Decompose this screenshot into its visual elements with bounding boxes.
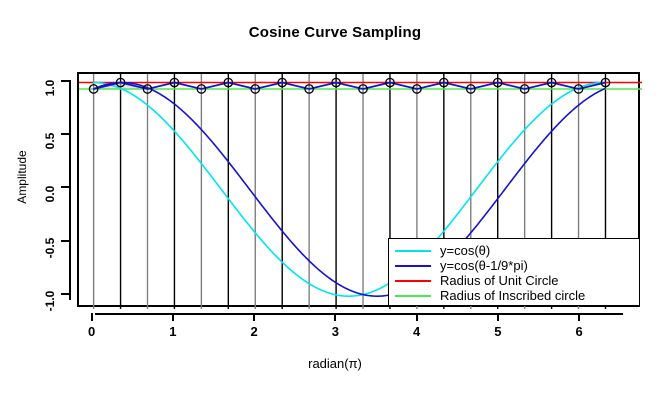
- legend-item-label: Radius of Inscribed circle: [440, 288, 585, 303]
- legend-swatch-icon: [395, 295, 431, 297]
- x-tick: [497, 313, 499, 321]
- legend-item-3[interactable]: Radius of Inscribed circle: [395, 288, 633, 303]
- y-tick: [61, 80, 69, 82]
- legend-swatch-icon: [395, 280, 431, 282]
- legend-item-label: Radius of Unit Circle: [440, 273, 559, 288]
- x-tick-label: 1: [158, 324, 188, 339]
- legend-item-2[interactable]: Radius of Unit Circle: [395, 273, 633, 288]
- x-tick: [91, 313, 93, 321]
- chart-legend: y=cos(θ)y=cos(θ-1/9*pi)Radius of Unit Ci…: [388, 238, 640, 306]
- x-axis-title: radian(π): [0, 356, 670, 371]
- y-axis-title: Amplitude: [15, 137, 29, 217]
- y-tick: [61, 133, 69, 135]
- chart-root: Cosine Curve Sampling Amplitude 1.00.50.…: [0, 0, 670, 408]
- legend-item-label: y=cos(θ): [440, 243, 490, 258]
- x-tick: [578, 313, 580, 321]
- x-tick-label: 5: [483, 324, 513, 339]
- x-tick: [253, 313, 255, 321]
- x-tick: [416, 313, 418, 321]
- x-tick-label: 2: [239, 324, 269, 339]
- legend-item-0[interactable]: y=cos(θ): [395, 243, 633, 258]
- legend-item-label: y=cos(θ-1/9*pi): [440, 258, 528, 273]
- x-tick-label: 0: [77, 324, 107, 339]
- y-tick: [61, 186, 69, 188]
- y-tick-label: 0.5: [43, 125, 57, 157]
- x-tick-label: 6: [564, 324, 594, 339]
- y-tick-label: 1.0: [43, 72, 57, 104]
- legend-swatch-icon: [395, 250, 431, 252]
- page-title: Cosine Curve Sampling: [0, 24, 670, 41]
- y-axis-line: [69, 80, 71, 300]
- x-tick-label: 3: [320, 324, 350, 339]
- y-tick-label: -1.0: [43, 285, 57, 317]
- legend-swatch-icon: [395, 265, 431, 267]
- y-tick: [61, 293, 69, 295]
- y-tick: [61, 240, 69, 242]
- x-axis-line: [95, 313, 623, 315]
- legend-item-1[interactable]: y=cos(θ-1/9*pi): [395, 258, 633, 273]
- x-tick: [334, 313, 336, 321]
- y-tick-label: -0.5: [43, 232, 57, 264]
- x-tick-label: 4: [402, 324, 432, 339]
- x-tick: [172, 313, 174, 321]
- y-tick-label: 0.0: [43, 178, 57, 210]
